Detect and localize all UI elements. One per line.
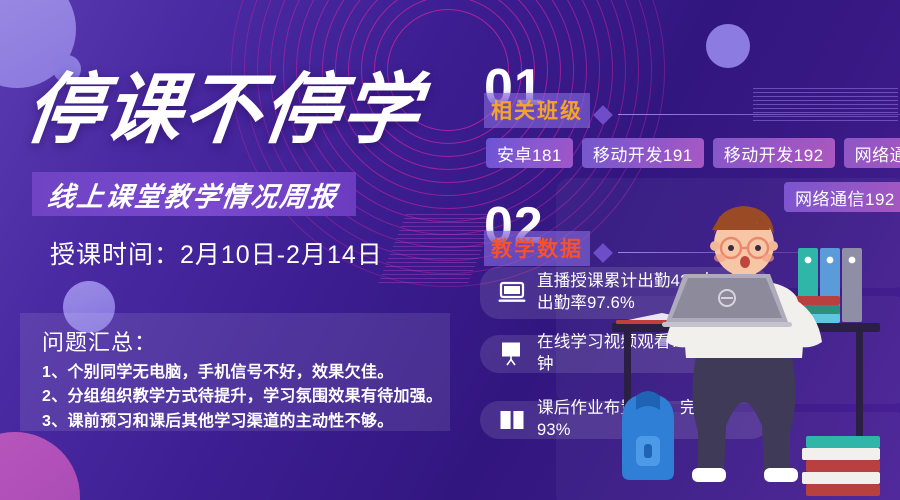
- laptop: [662, 274, 792, 327]
- section-decoration-line-01: [596, 105, 900, 125]
- class-tag[interactable]: 移动开发191: [582, 138, 704, 168]
- section-label-teaching-data: 教学数据: [484, 231, 590, 266]
- diamond-icon: [593, 105, 613, 125]
- open-book-icon: [498, 407, 526, 433]
- lecture-time-text: 授课时间：2月10日-2月14日: [50, 235, 383, 271]
- class-tag[interactable]: 网络通信191: [844, 138, 900, 168]
- decorative-circle-bottomleft-pink: [0, 432, 80, 500]
- student-figure: [666, 206, 822, 482]
- issue-item: 3、课前预习和课后其他学习渠道的主动性不够。: [42, 410, 450, 434]
- poster-main-title: 停课不停学: [21, 72, 425, 149]
- whiteboard-icon: [498, 341, 526, 367]
- issues-summary-list: 1、个别同学无电脑，手机信号不好，效果欠佳。 2、分组组织教学方式待提升，学习氛…: [42, 361, 450, 434]
- poster-subtitle: 线上课堂教学情况周报: [46, 175, 341, 214]
- class-tag[interactable]: 安卓181: [486, 138, 573, 168]
- poster-canvas: 停课不停学 线上课堂教学情况周报 授课时间：2月10日-2月14日 问题汇总： …: [0, 0, 900, 500]
- book-stack-floor: [802, 436, 880, 496]
- class-tag[interactable]: 移动开发192: [713, 138, 835, 168]
- issue-item: 2、分组组织教学方式待提升，学习氛围效果有待加强。: [42, 385, 450, 409]
- class-tag-row-1: 安卓181 移动开发191 移动开发192 网络通信191: [486, 138, 900, 168]
- section-label-related-classes: 相关班级: [484, 93, 590, 128]
- section-related-classes: 01 相关班级: [484, 62, 900, 142]
- issues-summary-title: 问题汇总：: [42, 325, 450, 357]
- issue-item: 1、个别同学无电脑，手机信号不好，效果欠佳。: [42, 361, 450, 385]
- backpack: [622, 391, 674, 480]
- horizontal-rule: [618, 114, 900, 115]
- student-illustration: [600, 200, 900, 500]
- laptop-icon: [498, 280, 526, 306]
- poster-subtitle-band: 线上课堂教学情况周报: [32, 172, 356, 216]
- issues-summary-box: 问题汇总： 1、个别同学无电脑，手机信号不好，效果欠佳。 2、分组组织教学方式待…: [20, 313, 450, 431]
